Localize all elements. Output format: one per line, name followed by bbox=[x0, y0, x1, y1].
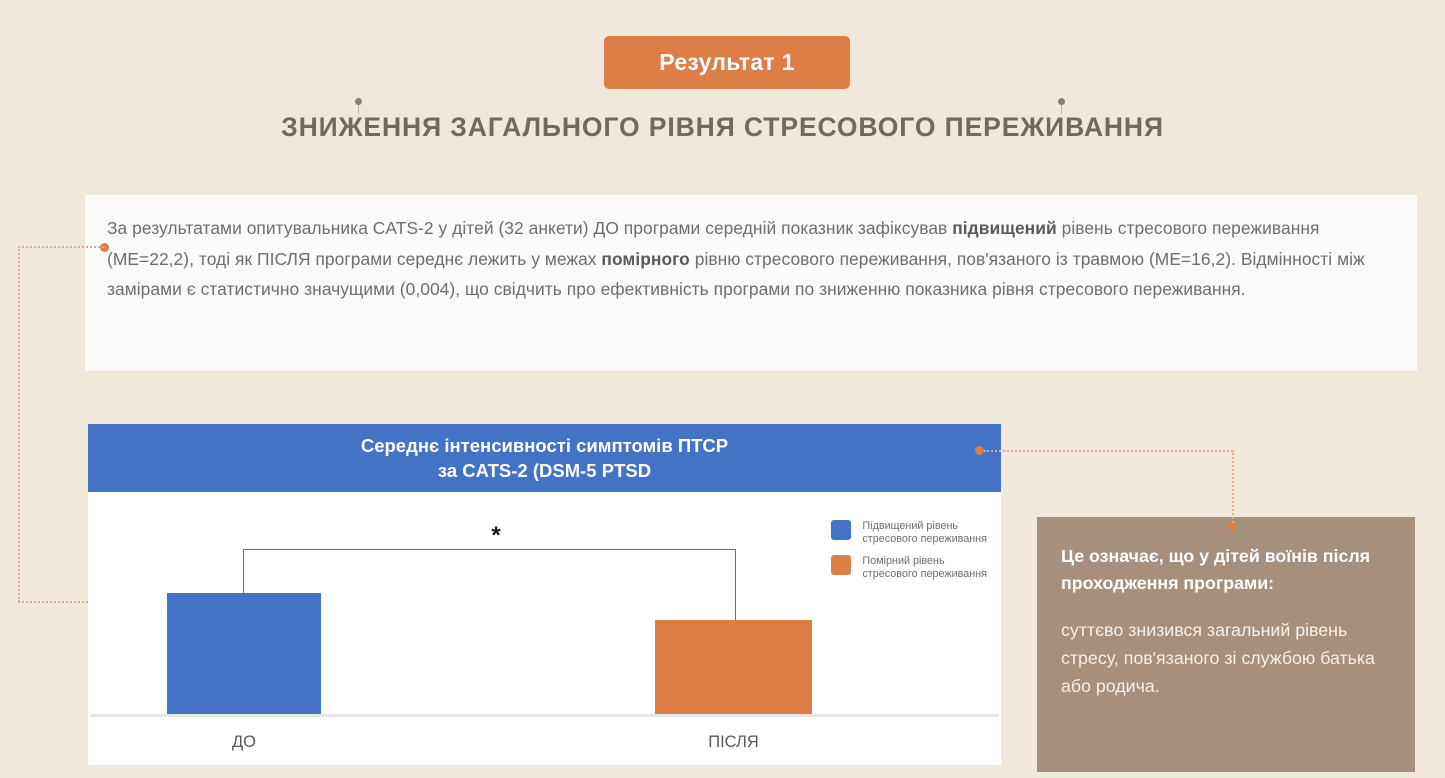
insight-callout-title: Це означає, що у дітей воїнів після прох… bbox=[1061, 543, 1391, 596]
bar-before bbox=[167, 593, 321, 714]
connector-line-left-vertical bbox=[18, 246, 20, 602]
chart-plot-area: * ДО ПІСЛЯ Підвищений рівень стресового … bbox=[88, 492, 1001, 765]
summary-text-1: За результатами опитувальника CATS-2 у д… bbox=[107, 218, 952, 238]
x-tick-label-after: ПІСЛЯ bbox=[655, 733, 812, 752]
significance-bracket-left-leg bbox=[243, 549, 244, 593]
significance-asterisk: * bbox=[476, 524, 516, 548]
summary-bold-1: підвищений bbox=[952, 218, 1057, 238]
x-tick-label-before: ДО bbox=[167, 733, 321, 752]
insight-callout: Це означає, що у дітей воїнів після прох… bbox=[1037, 517, 1415, 772]
legend-item-moderate: Помірний рівень стресового переживання bbox=[831, 555, 987, 581]
chart-legend: Підвищений рівень стресового переживання… bbox=[831, 520, 987, 590]
legend-swatch-blue-icon bbox=[831, 520, 851, 540]
result-badge-label: Результат 1 bbox=[659, 49, 794, 76]
legend-item-elevated: Підвищений рівень стресового переживання bbox=[831, 520, 987, 546]
connector-dot-right bbox=[975, 446, 984, 455]
insight-callout-body: суттєво знизився загальний рівень стресу… bbox=[1061, 616, 1391, 700]
page-title: ЗНИЖЕННЯ ЗАГАЛЬНОГО РІВНЯ СТРЕСОВОГО ПЕР… bbox=[0, 112, 1445, 143]
chart-title-line-1: Середнє інтенсивності симптомів ПТСР bbox=[361, 433, 728, 458]
result-badge: Результат 1 bbox=[604, 36, 850, 89]
connector-line-left-top bbox=[18, 246, 104, 248]
chart-card: Середнє інтенсивності симптомів ПТСР за … bbox=[88, 424, 1001, 765]
connector-line-right-top bbox=[984, 450, 1233, 452]
connector-line-left-bottom bbox=[18, 601, 92, 603]
legend-swatch-orange-icon bbox=[831, 555, 851, 575]
summary-panel: За результатами опитувальника CATS-2 у д… bbox=[85, 195, 1417, 371]
chart-x-axis bbox=[90, 714, 999, 717]
connector-line-right-vertical bbox=[1232, 450, 1234, 526]
significance-bracket-right-leg bbox=[735, 549, 736, 623]
bar-after bbox=[655, 620, 812, 714]
pin-dot bbox=[1058, 98, 1065, 105]
summary-bold-2: помірного bbox=[601, 249, 689, 269]
connector-arrow-down-icon bbox=[1226, 523, 1238, 533]
legend-label-elevated: Підвищений рівень стресового переживання bbox=[862, 520, 987, 546]
pin-dot bbox=[355, 98, 362, 105]
chart-title-line-2: за CATS-2 (DSM-5 PTSD bbox=[438, 458, 651, 483]
significance-bracket-top bbox=[243, 549, 736, 550]
legend-label-moderate: Помірний рівень стресового переживання bbox=[862, 555, 987, 581]
summary-paragraph: За результатами опитувальника CATS-2 у д… bbox=[107, 213, 1395, 305]
chart-title: Середнє інтенсивності симптомів ПТСР за … bbox=[88, 424, 1001, 492]
